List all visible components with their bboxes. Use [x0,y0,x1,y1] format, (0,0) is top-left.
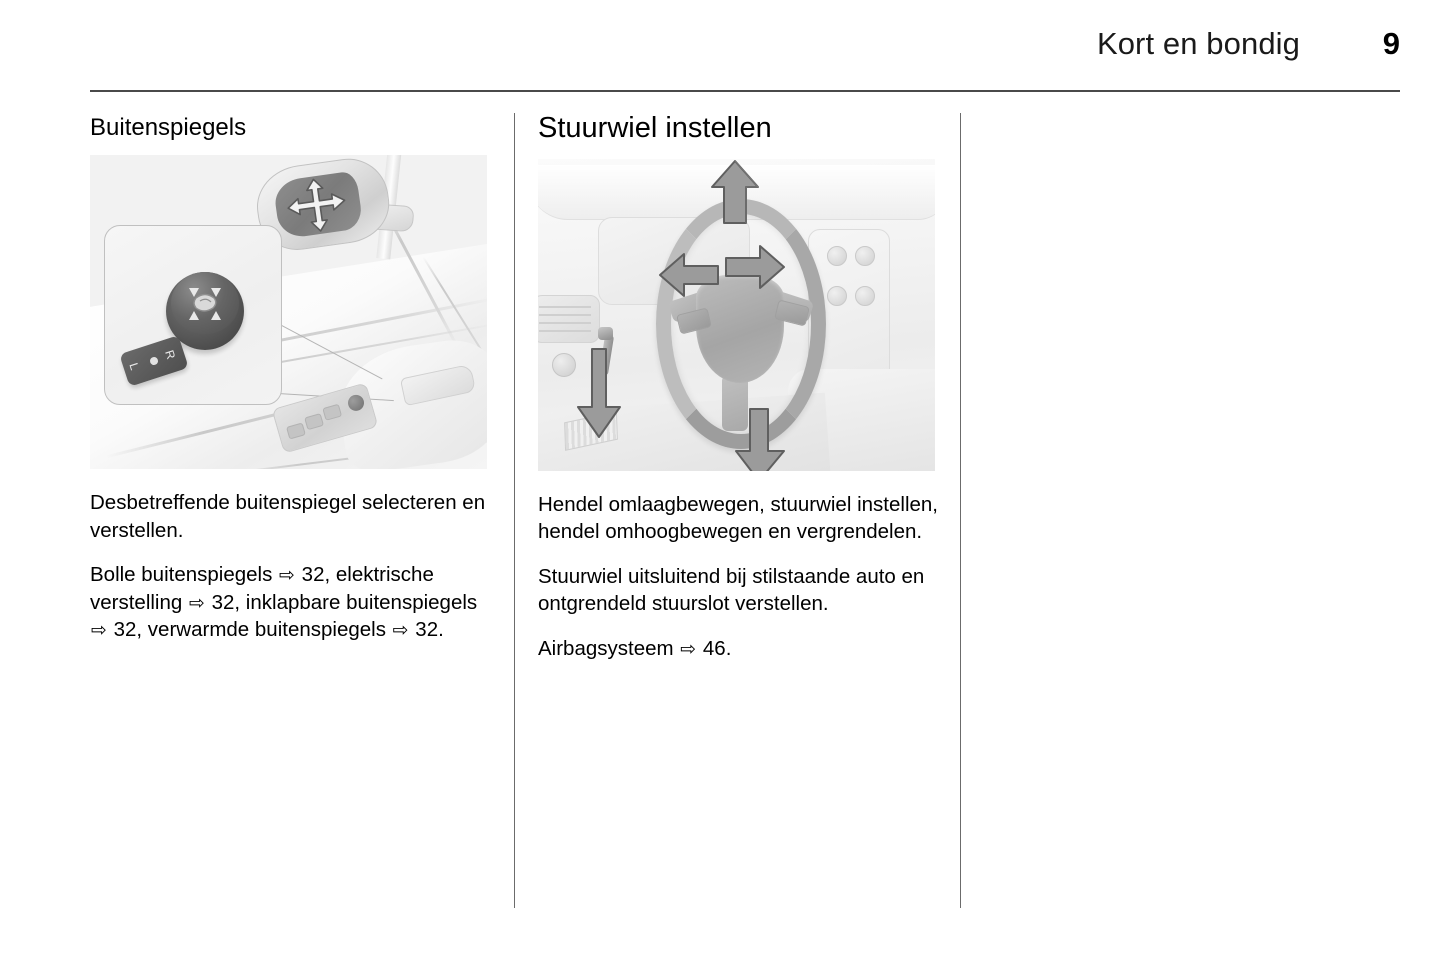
switch-neutral-dot [149,356,159,366]
arrow-down-wheel-icon [732,407,788,471]
text-run: Bolle buitenspiegels [90,563,278,586]
text-run: 32, verwarmde buitenspiegels [108,618,392,641]
section-heading-steering-wheel: Stuurwiel instellen [538,113,938,145]
text-run: 32. [410,618,444,641]
header-divider-rule [90,90,1400,92]
switch-label-left: L [126,361,141,372]
text-run: 46. [697,637,731,660]
arrow-up-icon [708,159,762,225]
left-paragraph-1: Desbetreffende buitenspiegel selecteren … [90,489,490,544]
steering-column-lever-knob [598,327,613,340]
page-reference-arrow-icon: ⇨ [188,592,206,614]
window-switch-button [322,404,342,421]
window-switch-button [286,423,306,440]
column-divider-right [960,113,961,908]
column-divider-left [514,113,515,908]
four-way-arrow-icon [279,170,361,240]
right-paragraph-2-text: Stuurwiel uitsluitend bij stilstaande au… [538,565,924,615]
console-control-dot [855,286,875,306]
right-paragraph-2: Stuurwiel uitsluitend bij stilstaande au… [538,563,938,618]
arrow-right-icon [724,243,786,291]
text-run: 32, inklapbare buitenspiegels [206,591,477,614]
page-title: Kort en bondig [1097,26,1300,62]
left-paragraph-1-text: Desbetreffende buitenspiegel selecteren … [90,491,485,541]
window-switch-button [304,413,324,430]
arrow-down-lever-icon [574,345,624,441]
mirror-adjust-icon [171,274,239,334]
exterior-mirror-figure: L R [90,155,487,469]
steering-wheel-figure [538,159,935,471]
switch-label-right: R [162,349,178,362]
page-reference-arrow-icon: ⇨ [278,564,296,586]
right-column: Stuurwiel instellen [538,113,938,662]
arrow-left-icon [658,251,720,299]
page-reference-arrow-icon: ⇨ [392,619,410,641]
mirror-joystick-on-door [346,393,366,413]
page-reference-arrow-icon: ⇨ [90,619,108,641]
dashboard-knob [552,353,576,377]
text-run: Airbagsysteem [538,637,679,660]
dashboard-background [538,159,935,471]
section-heading-exterior-mirrors: Buitenspiegels [90,113,490,141]
right-paragraph-3: Airbagsysteem ⇨ 46. [538,635,938,662]
right-paragraph-1-text: Hendel omlaagbewegen, stuurwiel instelle… [538,493,938,543]
console-control-dot [827,246,847,266]
page-header: Kort en bondig 9 [90,20,1400,68]
left-column: Buitenspiegels [90,113,490,644]
page-number: 9 [1300,26,1400,62]
left-right-mirror-selector-switch: L R [119,336,188,387]
console-control-dot [827,286,847,306]
page-reference-arrow-icon: ⇨ [679,638,697,660]
right-paragraph-1: Hendel omlaagbewegen, stuurwiel instelle… [538,491,938,546]
console-control-dot [855,246,875,266]
air-vent-left [538,295,600,343]
left-paragraph-2: Bolle buitenspiegels ⇨ 32, elektrische v… [90,561,490,643]
mirror-control-callout: L R [104,225,282,405]
